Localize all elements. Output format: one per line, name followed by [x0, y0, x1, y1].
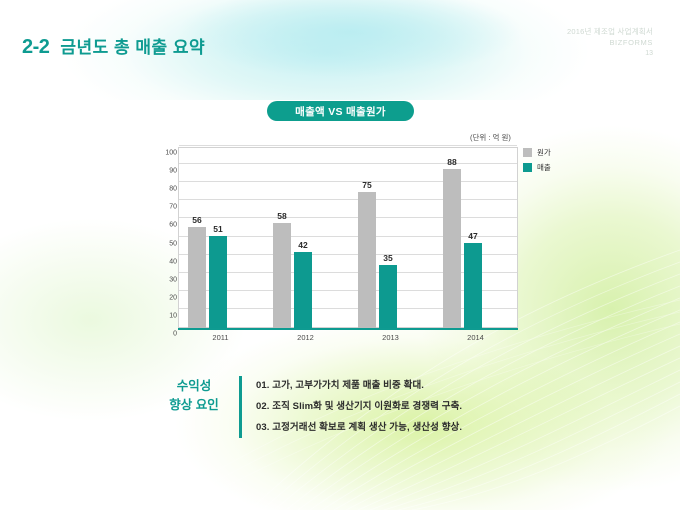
header-page-number: 13 — [567, 49, 653, 59]
bar-value-label: 75 — [362, 180, 371, 190]
chart-bar-group: 7535 — [348, 147, 433, 328]
bar-cost — [443, 169, 461, 328]
chart-bars-layer: 5651584275358847 — [178, 147, 518, 328]
header-doc-title: 2016년 제조업 사업계획서 — [567, 27, 653, 38]
chart-title-badge: 매출액 VS 매출원가 — [267, 101, 414, 121]
bar-value-label: 42 — [298, 240, 307, 250]
header-brand: BIZFORMS — [567, 38, 653, 49]
y-axis-tick: 10 — [155, 312, 177, 319]
notes-label-line1: 수익성 — [155, 377, 233, 396]
y-axis-tick: 70 — [155, 204, 177, 211]
bar-sales — [209, 236, 227, 328]
x-axis-label: 2013 — [382, 333, 399, 342]
bar-value-label: 88 — [447, 157, 456, 167]
y-axis-tick: 80 — [155, 186, 177, 193]
x-axis-label: 2012 — [297, 333, 314, 342]
chart-legend: 원가 매출 — [523, 147, 551, 173]
y-axis-tick: 60 — [155, 222, 177, 229]
chart-bar-group: 8847 — [433, 147, 518, 328]
x-axis-label: 2011 — [212, 333, 228, 342]
y-axis-tick: 90 — [155, 168, 177, 175]
legend-swatch-cost — [523, 148, 532, 157]
y-axis-tick: 50 — [155, 240, 177, 247]
page-title: 2-2 금년도 총 매출 요약 — [22, 33, 205, 59]
y-axis-tick: 100 — [155, 150, 177, 157]
notes-divider — [239, 376, 242, 438]
legend-label-sales: 매출 — [537, 162, 551, 173]
notes-label-line2: 향상 요인 — [155, 396, 233, 415]
legend-item-cost: 원가 — [523, 147, 551, 158]
note-item: 01. 고가, 고부가가치 제품 매출 비중 확대. — [256, 377, 462, 391]
bar-cost — [188, 227, 206, 328]
page-title-number: 2-2 — [22, 36, 49, 59]
x-axis-label: 2014 — [467, 333, 484, 342]
bar-value-label: 56 — [192, 215, 201, 225]
chart-x-axis: 2011201220132014 — [178, 333, 518, 347]
notes-section: 수익성 향상 요인 01. 고가, 고부가가치 제품 매출 비중 확대. 02.… — [155, 375, 462, 438]
chart-unit-label: (단위 : 억 원) — [470, 132, 511, 143]
chart-bar-group: 5651 — [178, 147, 263, 328]
y-axis-tick: 40 — [155, 258, 177, 265]
bar-value-label: 51 — [213, 224, 222, 234]
y-axis-tick: 20 — [155, 294, 177, 301]
note-item: 02. 조직 Slim화 및 생산기지 이원화로 경쟁력 구축. — [256, 398, 462, 412]
legend-item-sales: 매출 — [523, 162, 551, 173]
header-meta: 2016년 제조업 사업계획서 BIZFORMS 13 — [567, 27, 653, 59]
chart-y-axis: 0102030405060708090100 — [155, 141, 177, 334]
bar-value-label: 35 — [383, 253, 392, 263]
notes-label: 수익성 향상 요인 — [155, 375, 233, 438]
y-axis-tick: 30 — [155, 276, 177, 283]
notes-list: 01. 고가, 고부가가치 제품 매출 비중 확대. 02. 조직 Slim화 … — [256, 375, 462, 438]
slide: 2016년 제조업 사업계획서 BIZFORMS 13 2-2 금년도 총 매출… — [0, 0, 680, 510]
bar-value-label: 47 — [468, 231, 477, 241]
chart-bar-group: 5842 — [263, 147, 348, 328]
bar-cost — [273, 223, 291, 328]
bar-sales — [464, 243, 482, 328]
y-axis-tick: 0 — [155, 331, 177, 338]
page-title-text: 금년도 총 매출 요약 — [60, 33, 205, 58]
bar-cost — [358, 192, 376, 328]
bar-sales — [379, 265, 397, 328]
legend-swatch-sales — [523, 163, 532, 172]
legend-label-cost: 원가 — [537, 147, 551, 158]
note-item: 03. 고정거래선 확보로 계획 생산 가능, 생산성 향상. — [256, 419, 462, 433]
chart-baseline — [178, 328, 518, 330]
bar-sales — [294, 252, 312, 328]
chart-gridline — [179, 145, 517, 146]
bar-value-label: 58 — [277, 211, 286, 221]
